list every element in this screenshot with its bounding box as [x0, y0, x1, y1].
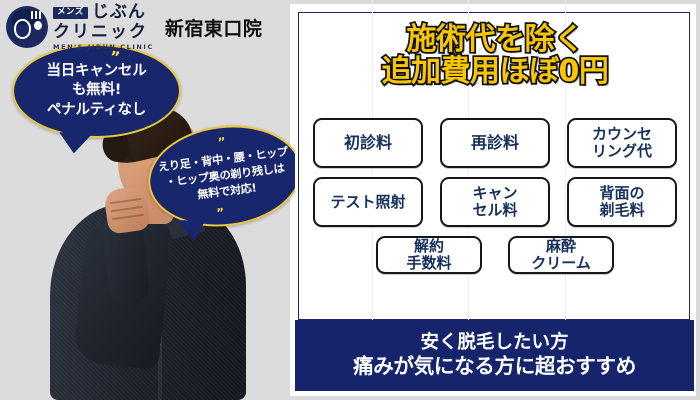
brand-name-line1: じぶん [92, 4, 146, 21]
logo-cheek-shape [34, 21, 42, 30]
fee-box-saishinryo: 再診料 [440, 118, 550, 168]
fee-box-cancellation-charge: 解約 手数料 [376, 236, 482, 274]
free-fee-grid: 初診料 再診料 カウンセ リング代 テスト照射 キャン セル料 背面の 剃毛料 … [300, 118, 690, 283]
headline-line-2: 追加費用ほぼ0円 [300, 56, 690, 88]
brand-wordmark-row1: メンズ じぶん [53, 4, 154, 21]
bubble-line: 当日キャンセル [46, 62, 146, 81]
brand-wordmark: メンズ じぶん クリニック MEN'S JIBUN CLINIC [53, 4, 154, 51]
logo-lines-shape [31, 11, 41, 19]
bubble-line: も無料! [46, 81, 146, 100]
fee-box-back-shaving: 背面の 剃毛料 [567, 177, 677, 227]
bottom-recommendation-banner: 安く脱毛したい方 痛みが気になる方に超おすすめ [295, 320, 694, 391]
brand-logo-lockup: メンズ じぶん クリニック MEN'S JIBUN CLINIC 新宿東口院 [6, 4, 262, 51]
quote-mark-icon: ” [216, 206, 225, 219]
quote-mark-icon: ” [109, 49, 121, 65]
fee-row: テスト照射 キャン セル料 背面の 剃毛料 [300, 177, 690, 227]
brand-name-line2: クリニック [53, 24, 154, 41]
fee-box-shoshinryo: 初診料 [313, 118, 423, 168]
fee-box-anesthetic-cream: 麻酔 クリーム [508, 236, 614, 274]
banner-line-1: 安く脱毛したい方 [353, 331, 636, 354]
mens-badge: メンズ [53, 7, 88, 19]
bubble-tail [59, 130, 97, 155]
bubble-tail [176, 220, 205, 241]
banner-text: 安く脱毛したい方 痛みが気になる方に超おすすめ [353, 331, 636, 380]
bubble-line: ペナルティなし [46, 101, 146, 120]
left-photo-panel: メンズ じぶん クリニック MEN'S JIBUN CLINIC 新宿東口院 [0, 0, 295, 400]
fee-box-cancel-fee: キャン セル料 [440, 177, 550, 227]
quote-mark-icon: ” [217, 136, 226, 149]
brand-name-english: MEN'S JIBUN CLINIC [53, 44, 154, 51]
banner-line-2: 痛みが気になる方に超おすすめ [353, 354, 636, 380]
speech-bubble-cancel-free: ” 当日キャンセル も無料! ペナルティなし [12, 44, 181, 138]
advertisement-banner: メンズ じぶん クリニック MEN'S JIBUN CLINIC 新宿東口院 [0, 0, 700, 400]
fee-row: 初診料 再診料 カウンセ リング代 [300, 118, 690, 168]
headline: 施術代を除く 追加費用ほぼ0円 [300, 24, 690, 89]
jibun-clinic-face-logo-icon [6, 6, 48, 48]
fee-row: 解約 手数料 麻酔 クリーム [300, 236, 690, 274]
fee-box-test-shooting: テスト照射 [313, 177, 423, 227]
fee-box-counseling: カウンセ リング代 [567, 118, 677, 168]
headline-line-1: 施術代を除く [300, 24, 690, 56]
branch-name: 新宿東口院 [165, 14, 263, 41]
logo-face-shape [14, 19, 31, 39]
